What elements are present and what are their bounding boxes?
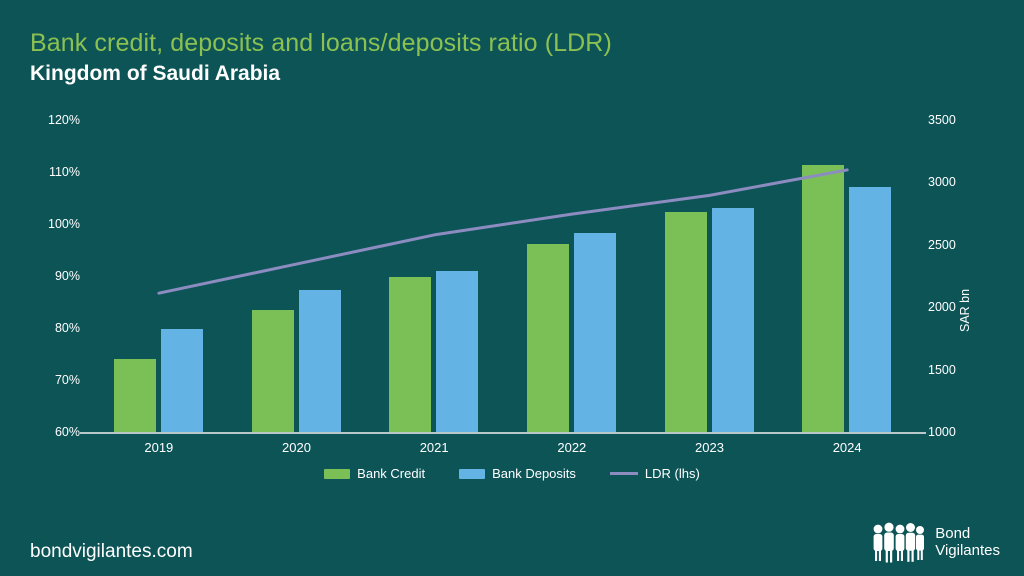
legend-item-ldr[interactable]: LDR (lhs) xyxy=(610,466,700,481)
y-axis-left-tick: 60% xyxy=(10,425,80,439)
bar-group xyxy=(389,120,478,432)
y-axis-left-tick: 80% xyxy=(10,321,80,335)
legend-label-bank-credit: Bank Credit xyxy=(357,466,425,481)
y-axis-left-tick: 110% xyxy=(10,165,80,179)
chart-header: Bank credit, deposits and loans/deposits… xyxy=(30,28,930,88)
y-axis-left-tick: 90% xyxy=(10,269,80,283)
page-subtitle: Kingdom of Saudi Arabia xyxy=(30,60,930,88)
bar-bank-credit xyxy=(665,212,707,432)
x-axis-tick-label: 2020 xyxy=(237,440,357,455)
x-axis-tick-label: 2021 xyxy=(374,440,494,455)
brand-name-line2: Vigilantes xyxy=(935,542,1000,559)
bar-bank-deposits xyxy=(574,233,616,432)
legend-label-ldr: LDR (lhs) xyxy=(645,466,700,481)
page-title: Bank credit, deposits and loans/deposits… xyxy=(30,28,930,58)
legend-item-bank-deposits[interactable]: Bank Deposits xyxy=(459,466,576,481)
x-axis-tick-label: 2019 xyxy=(99,440,219,455)
bars-layer xyxy=(90,120,916,432)
axis-tick-mark xyxy=(917,432,926,434)
bar-group xyxy=(527,120,616,432)
y-axis-right-tick: 1500 xyxy=(928,363,1008,377)
chart-legend: Bank Credit Bank Deposits LDR (lhs) xyxy=(0,466,1024,481)
y-axis-left-tick: 100% xyxy=(10,217,80,231)
y-axis-right-label: SAR bn xyxy=(958,289,972,332)
y-axis-left-tick: 70% xyxy=(10,373,80,387)
bar-bank-credit xyxy=(252,310,294,432)
brand-name-line1: Bond xyxy=(935,525,1000,542)
y-axis-right-tick: 1000 xyxy=(928,425,1008,439)
legend-item-bank-credit[interactable]: Bank Credit xyxy=(324,466,425,481)
x-axis-tick-label: 2024 xyxy=(787,440,907,455)
bar-bank-credit xyxy=(527,244,569,432)
legend-swatch-icon-credit xyxy=(324,469,350,479)
x-axis-line xyxy=(80,432,926,434)
x-axis-tick-label: 2022 xyxy=(512,440,632,455)
bar-group xyxy=(114,120,203,432)
bar-bank-deposits xyxy=(849,187,891,432)
bar-group xyxy=(252,120,341,432)
legend-swatch-icon-deposits xyxy=(459,469,485,479)
bar-bank-deposits xyxy=(299,290,341,432)
bar-group xyxy=(802,120,891,432)
y-axis-right-tick: 2500 xyxy=(928,238,1008,252)
axis-tick-mark xyxy=(80,432,89,434)
bar-bank-credit xyxy=(802,165,844,432)
people-group-icon xyxy=(869,521,925,563)
x-axis-tick-label: 2023 xyxy=(650,440,770,455)
legend-line-icon-ldr xyxy=(610,472,638,475)
y-axis-right-tick: 3000 xyxy=(928,175,1008,189)
footer-website-url[interactable]: bondvigilantes.com xyxy=(30,541,193,563)
chart-plot-area: 120%110%100%90%80%70%60% 350030002500200… xyxy=(0,100,1024,460)
bar-group xyxy=(665,120,754,432)
bar-bank-deposits xyxy=(161,329,203,432)
bar-bank-deposits xyxy=(712,208,754,432)
bar-bank-credit xyxy=(389,277,431,432)
legend-label-bank-deposits: Bank Deposits xyxy=(492,466,576,481)
slide-canvas: Bank credit, deposits and loans/deposits… xyxy=(0,0,1024,576)
brand-name: Bond Vigilantes xyxy=(935,525,1000,559)
bar-bank-deposits xyxy=(436,271,478,432)
y-axis-left-tick: 120% xyxy=(10,113,80,127)
brand-logo: Bond Vigilantes xyxy=(869,521,1000,563)
y-axis-right-tick: 3500 xyxy=(928,113,1008,127)
bar-bank-credit xyxy=(114,359,156,432)
